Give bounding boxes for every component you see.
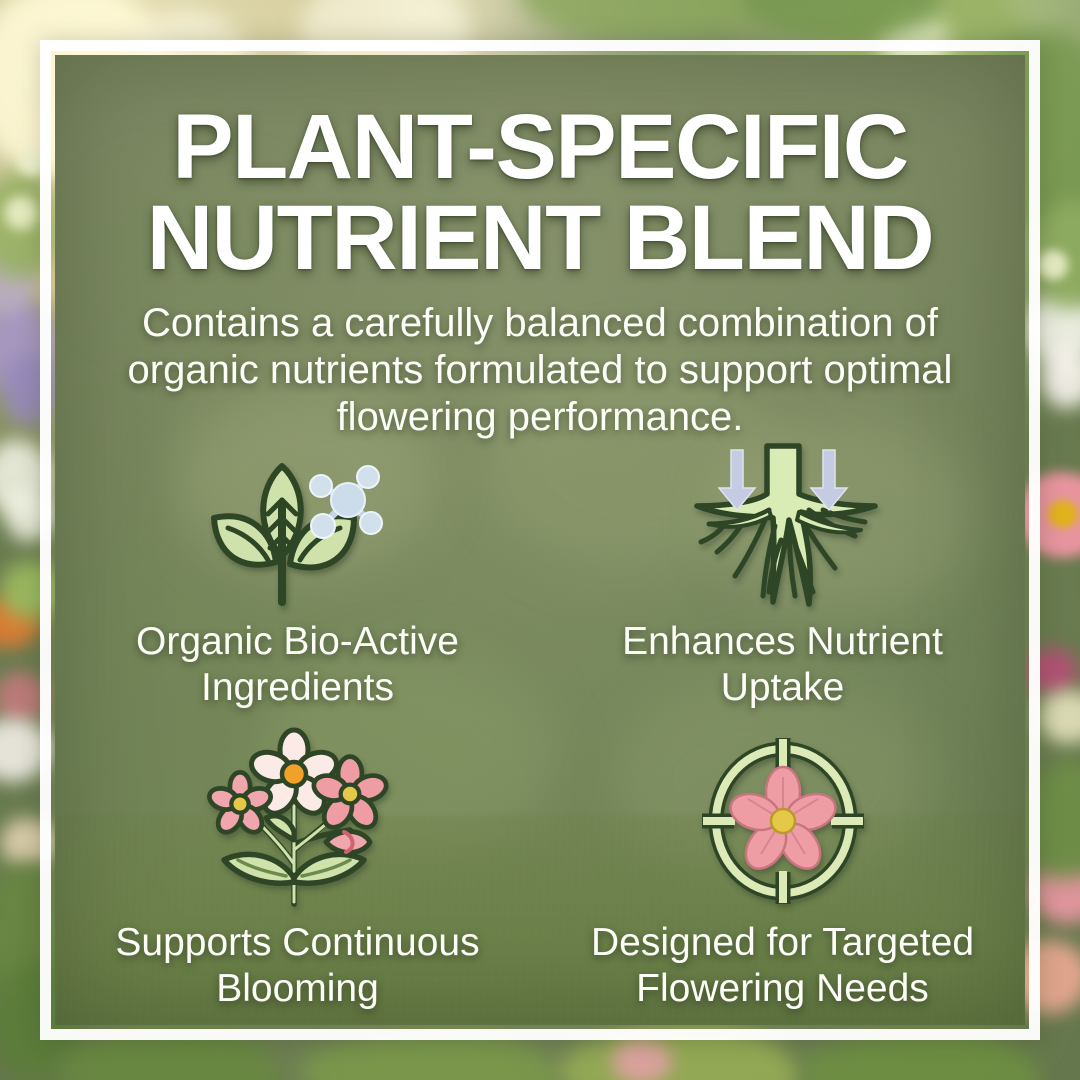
flower-bud bbox=[326, 832, 370, 853]
root-uptake-arrows-icon bbox=[685, 440, 881, 615]
bokeh-light bbox=[1038, 250, 1068, 280]
flowering-plant-icon bbox=[198, 726, 398, 916]
feature-label-line-1: Enhances Nutrient bbox=[622, 620, 943, 663]
feature-item-enhances-nutrient-uptake[interactable]: Enhances Nutrient Uptake bbox=[540, 440, 1025, 710]
feature-label: Designed for Targeted Flowering Needs bbox=[591, 920, 974, 1011]
feature-label-line-2: Flowering Needs bbox=[636, 967, 929, 1010]
flower-blob-pink bbox=[612, 1040, 672, 1080]
target-flower bbox=[725, 767, 839, 876]
feature-grid: Organic Bio-Active Ingredients bbox=[55, 440, 1025, 1012]
flower-pink-small bbox=[206, 773, 273, 837]
feature-label: Enhances Nutrient Uptake bbox=[622, 619, 943, 710]
feature-label-line-2: Uptake bbox=[721, 666, 845, 709]
feature-label-line-1: Supports Continuous bbox=[115, 921, 479, 964]
feature-label: Organic Bio-Active Ingredients bbox=[136, 619, 459, 710]
title-line-2: NUTRIENT BLEND bbox=[55, 193, 1025, 284]
flower-center-yellow bbox=[1048, 500, 1078, 528]
feature-item-designed-for-targeted-flowering[interactable]: Designed for Targeted Flowering Needs bbox=[540, 726, 1025, 1011]
feature-label-line-2: Blooming bbox=[216, 967, 379, 1010]
bokeh-light bbox=[4, 196, 38, 230]
feature-label-line-1: Organic Bio-Active bbox=[136, 620, 459, 663]
infographic-card: PLANT-SPECIFIC NUTRIENT BLEND Contains a… bbox=[0, 0, 1080, 1080]
card-content: PLANT-SPECIFIC NUTRIENT BLEND Contains a… bbox=[55, 55, 1025, 1025]
feature-label: Supports Continuous Blooming bbox=[115, 920, 479, 1011]
subtitle-text: Contains a carefully balanced combinatio… bbox=[115, 300, 965, 442]
feature-item-organic-bio-active[interactable]: Organic Bio-Active Ingredients bbox=[55, 440, 540, 710]
crosshair-flower-target-icon bbox=[690, 726, 876, 916]
title-line-1: PLANT-SPECIFIC bbox=[172, 96, 907, 198]
feature-label-line-1: Designed for Targeted bbox=[591, 921, 974, 964]
feature-label-line-2: Ingredients bbox=[201, 666, 394, 709]
feature-item-supports-continuous-blooming[interactable]: Supports Continuous Blooming bbox=[55, 726, 540, 1011]
page-title: PLANT-SPECIFIC NUTRIENT BLEND bbox=[55, 102, 1025, 284]
leaf-molecule-icon bbox=[198, 440, 398, 615]
